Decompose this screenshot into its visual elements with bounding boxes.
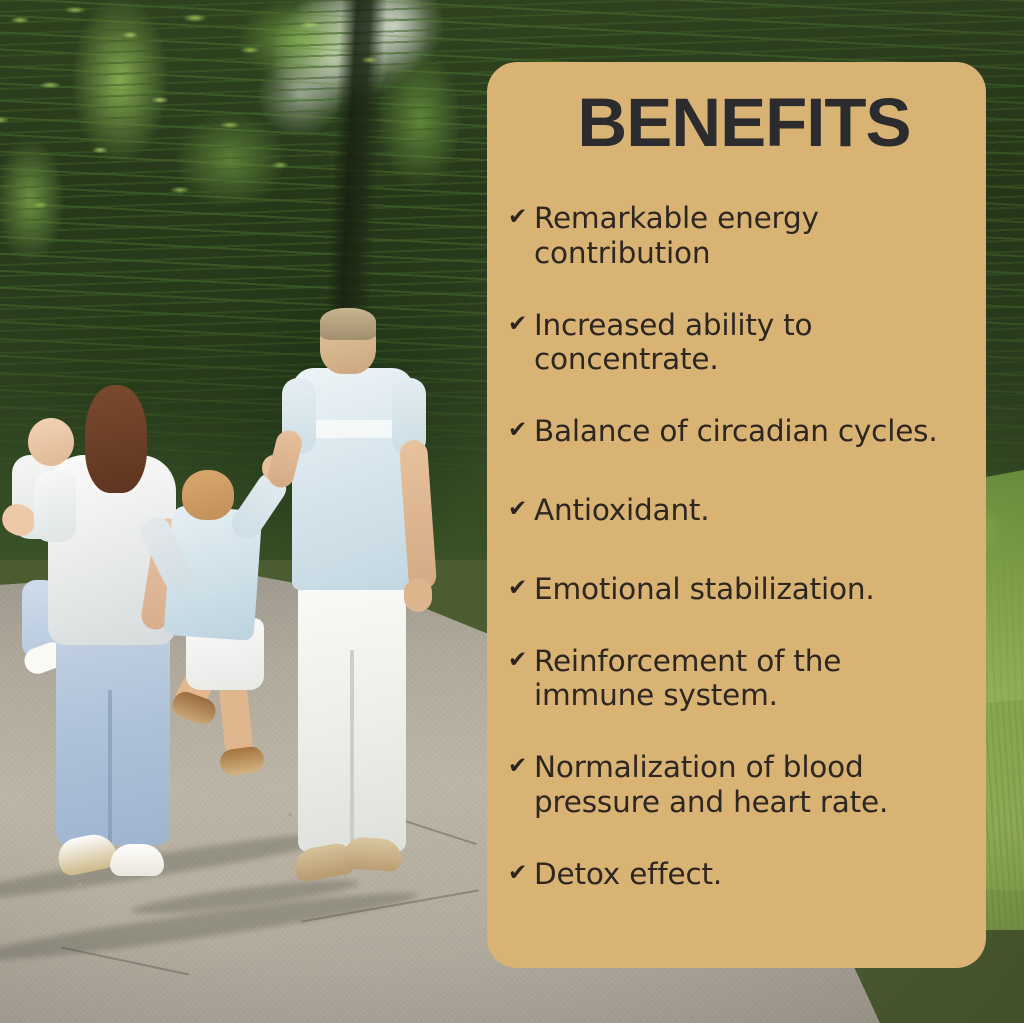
leaf-sprays bbox=[0, 0, 540, 250]
benefits-card: BENEFITS ✔ Remarkable energy contributio… bbox=[487, 62, 986, 968]
list-item: ✔ Emotional stabilization. bbox=[508, 572, 974, 607]
check-icon: ✔ bbox=[508, 857, 534, 890]
list-item: ✔ Remarkable energy contribution bbox=[508, 201, 974, 271]
list-item-label: Normalization of blood pressure and hear… bbox=[534, 750, 974, 820]
list-item-label: Reinforcement of the immune system. bbox=[534, 644, 974, 714]
list-item: ✔ Detox effect. bbox=[508, 857, 974, 892]
check-icon: ✔ bbox=[508, 644, 534, 677]
mother-sleeve bbox=[34, 470, 76, 542]
check-icon: ✔ bbox=[508, 493, 534, 526]
father-hand-right bbox=[404, 578, 432, 612]
list-item: ✔ Normalization of blood pressure and he… bbox=[508, 750, 974, 820]
list-item-label: Balance of circadian cycles. bbox=[534, 414, 974, 449]
list-item: ✔ Antioxidant. bbox=[508, 493, 974, 528]
mother-leg-seam bbox=[108, 690, 112, 845]
list-item-label: Increased ability to concentrate. bbox=[534, 308, 974, 378]
list-item-label: Detox effect. bbox=[534, 857, 974, 892]
boy-head bbox=[182, 470, 234, 520]
mother-jeans bbox=[56, 615, 170, 845]
father-hair bbox=[320, 308, 376, 340]
mother-hair bbox=[85, 385, 147, 493]
list-item: ✔ Increased ability to concentrate. bbox=[508, 308, 974, 378]
check-icon: ✔ bbox=[508, 414, 534, 447]
mother-shoe-right bbox=[110, 844, 164, 876]
father-leg-seam bbox=[350, 650, 354, 850]
page-title: BENEFITS bbox=[514, 88, 974, 157]
list-item: ✔ Reinforcement of the immune system. bbox=[508, 644, 974, 714]
list-item: ✔ Balance of circadian cycles. bbox=[508, 414, 974, 449]
benefits-list: ✔ Remarkable energy contribution ✔ Incre… bbox=[508, 201, 974, 892]
check-icon: ✔ bbox=[508, 201, 534, 234]
check-icon: ✔ bbox=[508, 572, 534, 605]
list-item-label: Remarkable energy contribution bbox=[534, 201, 974, 271]
list-item-label: Emotional stabilization. bbox=[534, 572, 974, 607]
check-icon: ✔ bbox=[508, 308, 534, 341]
check-icon: ✔ bbox=[508, 750, 534, 783]
list-item-label: Antioxidant. bbox=[534, 493, 974, 528]
